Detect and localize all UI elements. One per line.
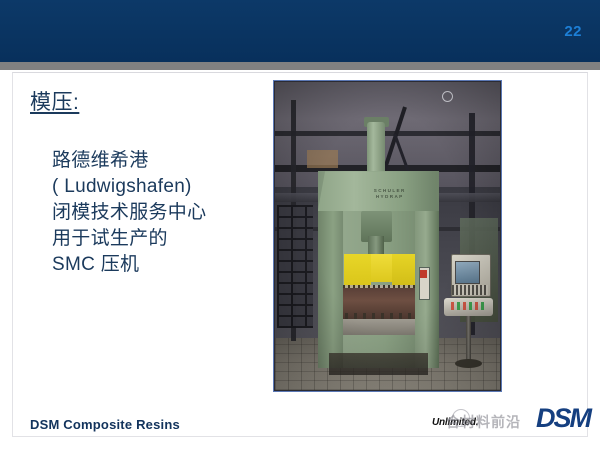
pallet-stack [307,150,339,168]
body-text-block: 路德维希港 ( Ludwigshafen) 闭模技术服务中心 用于试生产的 SM… [52,148,267,278]
body-line: SMC 压机 [52,252,267,278]
body-line: 路德维希港 [52,148,267,174]
press-photo: SCHULER HYDRAP [275,82,500,390]
page-number: 22 [564,24,582,39]
console-display [455,261,480,285]
console-keypad [452,285,488,294]
slide: 22 模压: 路德维希港 ( Ludwigshafen) 闭模技术服务中心 用于… [0,0,600,449]
body-line: 闭模技术服务中心 [52,200,267,226]
ceiling-beam [275,131,500,136]
press-brand-line-2: HYDRAP [376,194,404,199]
header-bar [0,0,600,62]
press-brand-line-1: SCHULER [374,188,406,193]
console-buttons [451,302,485,310]
storage-rack [277,205,313,328]
press-base [329,353,428,375]
press-column-left [318,211,343,368]
footer-brand-text: DSM Composite Resins [30,417,180,432]
header-divider-rule [0,62,600,70]
page-title: 模压: [30,86,79,116]
body-line: 用于试生产的 [52,226,267,252]
console-pedestal [466,316,471,362]
body-line: ( Ludwigshafen) [52,174,267,200]
emergency-stop-icon [420,270,427,278]
press-photo-frame: SCHULER HYDRAP [273,80,502,392]
logo-area: Unlimited. DSM 合材料前沿 [432,403,592,437]
watermark-ring-icon [452,409,470,427]
press-bolster-plate [343,319,415,334]
dsm-logo: DSM [536,403,590,433]
press-brand-label: SCHULER HYDRAP [358,188,421,200]
press-safety-guard [371,254,392,282]
ceiling-light-icon [442,91,453,102]
press-hydraulic-cylinder [367,122,385,177]
